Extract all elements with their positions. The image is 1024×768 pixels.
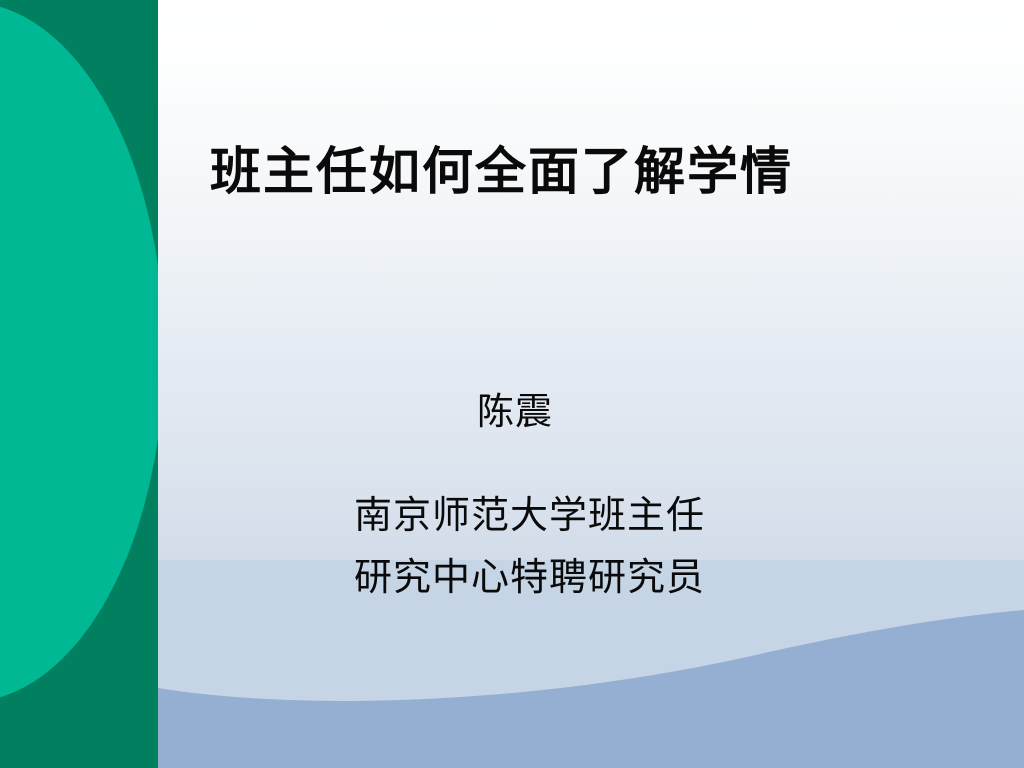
slide-decoration xyxy=(0,0,1024,768)
affiliation-line-2: 研究中心特聘研究员 xyxy=(354,546,705,608)
affiliation-line-1: 南京师范大学班主任 xyxy=(354,484,705,546)
presenter-name: 陈震 xyxy=(300,389,730,435)
presenter-affiliation: 南京师范大学班主任 研究中心特聘研究员 xyxy=(354,484,705,608)
slide-title: 班主任如何全面了解学情 xyxy=(210,141,910,205)
presentation-slide: 班主任如何全面了解学情 陈震 南京师范大学班主任 研究中心特聘研究员 xyxy=(0,0,1024,768)
